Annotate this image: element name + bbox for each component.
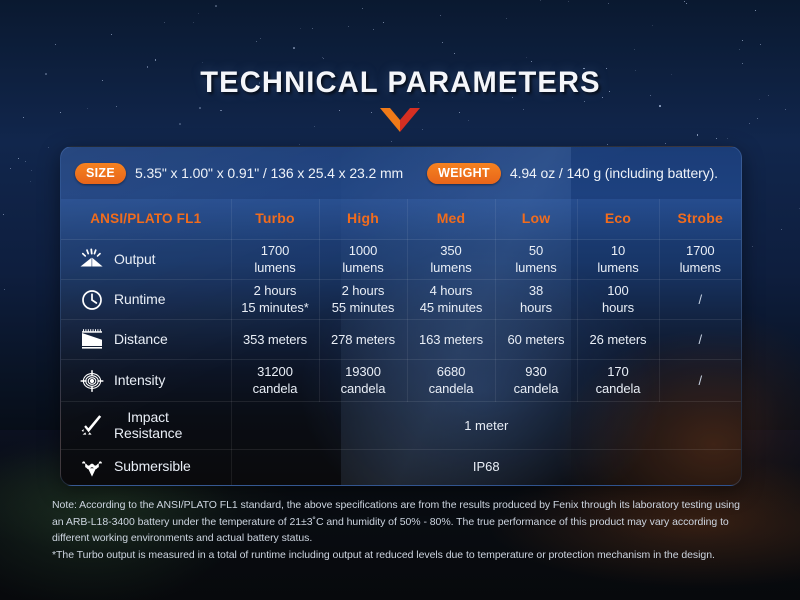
table-row: SubmersibleIP68 (61, 450, 741, 485)
col-header-turbo[interactable]: Turbo (231, 199, 319, 240)
cell-unit: candela (320, 381, 407, 397)
table-cell: 2 hours55 minutes (319, 280, 407, 320)
row-label-cell-output: Output (61, 240, 231, 280)
table-cell: 60 meters (495, 320, 577, 360)
merged-value-cell: IP68 (231, 450, 741, 485)
row-label: Intensity (114, 373, 165, 389)
col-header-label: Eco (605, 210, 631, 226)
table-cell: 2 hours15 minutes* (231, 280, 319, 320)
clock-runtime-icon (79, 288, 105, 312)
table-cell: / (659, 280, 741, 320)
beam-distance-icon (79, 328, 105, 352)
row-label-cell-distance: Distance (61, 320, 231, 360)
col-header-strobe[interactable]: Strobe (659, 199, 741, 240)
size-weight-row: SIZE 5.35" x 1.00" x 0.91" / 136 x 25.4 … (61, 147, 741, 199)
row-label: Output (114, 252, 155, 268)
cell-unit: hours (578, 300, 659, 316)
footnote-line-2: *The Turbo output is measured in a total… (52, 547, 752, 564)
table-row: Runtime2 hours15 minutes*2 hours55 minut… (61, 280, 741, 320)
submersible-icon (79, 455, 105, 479)
cell-unit: 55 minutes (320, 300, 407, 316)
cell-value: 1700lumens (232, 243, 319, 276)
weight-value: 4.94 oz / 140 g (including battery). (510, 165, 718, 181)
table-cell: 353 meters (231, 320, 319, 360)
cell-value: 1000lumens (320, 243, 407, 276)
table-cell: 1000lumens (319, 240, 407, 280)
cell-value: 2 hours15 minutes* (232, 283, 319, 316)
cell-unit: candela (496, 381, 577, 397)
weight-group: WEIGHT 4.94 oz / 140 g (including batter… (427, 163, 718, 184)
table-cell: 100hours (577, 280, 659, 320)
cell-unit: lumens (496, 260, 577, 276)
cell-unit: lumens (660, 260, 742, 276)
chevron-down-icon (378, 106, 422, 132)
size-badge: SIZE (75, 163, 126, 184)
table-cell: 170candela (577, 360, 659, 402)
cell-unit: lumens (408, 260, 495, 276)
weight-badge: WEIGHT (427, 163, 501, 184)
col-header-med[interactable]: Med (407, 199, 495, 240)
title-block: TECHNICAL PARAMETERS (0, 66, 800, 132)
cell-value: 60 meters (508, 332, 565, 347)
row-label: Distance (114, 332, 168, 348)
cell-unit: 15 minutes* (232, 300, 319, 316)
table-cell: 163 meters (407, 320, 495, 360)
table-cell: 10lumens (577, 240, 659, 280)
table-cell: 930candela (495, 360, 577, 402)
row-label-cell-submersible: Submersible (61, 450, 231, 485)
table-cell: 38hours (495, 280, 577, 320)
cell-value: 100hours (578, 283, 659, 316)
cell-unit: 45 minutes (408, 300, 495, 316)
cell-value: 930candela (496, 364, 577, 397)
table-cell: 1700lumens (659, 240, 741, 280)
size-value: 5.35" x 1.00" x 0.91" / 136 x 25.4 x 23.… (135, 165, 403, 181)
cell-value: 350lumens (408, 243, 495, 276)
impact-resistance-icon (79, 414, 105, 438)
merged-value-cell: 1 meter (231, 402, 741, 450)
table-cell: 350lumens (407, 240, 495, 280)
row-label: Submersible (114, 459, 191, 475)
table-header: ANSI/PLATO FL1 Turbo High Med Low Eco St… (61, 199, 741, 240)
table-cell: 50lumens (495, 240, 577, 280)
table-body: Output1700lumens1000lumens350lumens50lum… (61, 240, 741, 485)
technical-parameters-card: SIZE 5.35" x 1.00" x 0.91" / 136 x 25.4 … (60, 146, 742, 486)
target-intensity-icon (79, 369, 105, 393)
table-header-row: ANSI/PLATO FL1 Turbo High Med Low Eco St… (61, 199, 741, 240)
cell-value: 19300candela (320, 364, 407, 397)
cell-value: IP68 (473, 459, 500, 474)
cell-value: 50lumens (496, 243, 577, 276)
table-cell: 1700lumens (231, 240, 319, 280)
cell-value: 38hours (496, 283, 577, 316)
cell-unit: lumens (232, 260, 319, 276)
cell-value: 1700lumens (660, 243, 742, 276)
cell-value-empty: / (698, 292, 702, 307)
cell-unit: candela (578, 381, 659, 397)
table-cell: / (659, 360, 741, 402)
col-header-label: Strobe (677, 210, 723, 226)
col-header-label: Turbo (255, 210, 295, 226)
col-header-low[interactable]: Low (495, 199, 577, 240)
cell-value: 4 hours45 minutes (408, 283, 495, 316)
col-header-label: Med (437, 210, 466, 226)
row-label-cell-intensity: Intensity (61, 360, 231, 402)
cell-unit: candela (408, 381, 495, 397)
cell-unit: lumens (578, 260, 659, 276)
cell-unit: lumens (320, 260, 407, 276)
table-cell: 31200candela (231, 360, 319, 402)
row-label: Runtime (114, 292, 165, 308)
table-cell: / (659, 320, 741, 360)
cell-value: 353 meters (243, 332, 307, 347)
table-cell: 4 hours45 minutes (407, 280, 495, 320)
cell-value: 2 hours55 minutes (320, 283, 407, 316)
table-row: ImpactResistance1 meter (61, 402, 741, 450)
table-row: Intensity31200candela19300candela6680can… (61, 360, 741, 402)
table-cell: 278 meters (319, 320, 407, 360)
cell-value-empty: / (698, 332, 702, 347)
table-cell: 6680candela (407, 360, 495, 402)
page-title: TECHNICAL PARAMETERS (200, 66, 601, 100)
footnote-line-1: Note: According to the ANSI/PLATO FL1 st… (52, 497, 752, 547)
cell-value: 31200candela (232, 364, 319, 397)
col-header-label: ANSI/PLATO FL1 (90, 211, 201, 226)
col-header-label: Low (522, 210, 551, 226)
row-label-cell-runtime: Runtime (61, 280, 231, 320)
cell-value: 163 meters (419, 332, 483, 347)
cell-value: 6680candela (408, 364, 495, 397)
sunburst-output-icon (79, 248, 105, 272)
row-label-cell-impact-resistance: ImpactResistance (61, 402, 231, 450)
table-row: Output1700lumens1000lumens350lumens50lum… (61, 240, 741, 280)
table-cell: 26 meters (577, 320, 659, 360)
row-label: ImpactResistance (114, 410, 182, 441)
cell-value: 1 meter (464, 418, 508, 433)
cell-value: 170candela (578, 364, 659, 397)
specifications-table: ANSI/PLATO FL1 Turbo High Med Low Eco St… (61, 199, 741, 485)
col-header-high[interactable]: High (319, 199, 407, 240)
col-header-ansi-plato-fl1[interactable]: ANSI/PLATO FL1 (61, 199, 231, 240)
cell-unit: candela (232, 381, 319, 397)
cell-value: 278 meters (331, 332, 395, 347)
col-header-label: High (347, 210, 379, 226)
cell-value: 26 meters (590, 332, 647, 347)
table-cell: 19300candela (319, 360, 407, 402)
cell-unit: hours (496, 300, 577, 316)
table-row: Distance353 meters278 meters163 meters60… (61, 320, 741, 360)
cell-value: 10lumens (578, 243, 659, 276)
footnote: Note: According to the ANSI/PLATO FL1 st… (52, 497, 752, 563)
cell-value-empty: / (698, 373, 702, 388)
col-header-eco[interactable]: Eco (577, 199, 659, 240)
